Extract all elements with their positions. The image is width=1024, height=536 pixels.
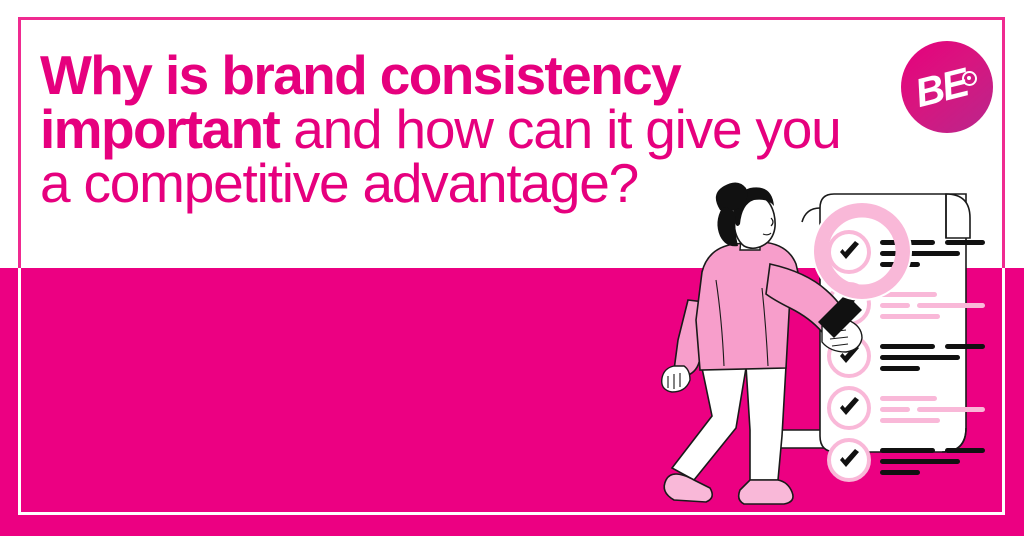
text-line (945, 344, 985, 349)
headline-regular-part-1: and how can it give you (279, 98, 840, 160)
text-line (945, 448, 985, 453)
headline-bold-part-1: Why is brand consistency (40, 44, 680, 106)
logo-registered-dot-icon (962, 71, 977, 86)
text-line (880, 355, 960, 360)
logo-wordmark: BE (891, 31, 1003, 143)
frame-border-left-upper (18, 17, 21, 268)
headline-line-2: important and how can it give you (40, 102, 1000, 156)
person-back-shoe (664, 474, 712, 502)
person-front-leg (746, 366, 786, 480)
text-line (880, 418, 940, 423)
text-line (880, 303, 910, 308)
frame-border-top (18, 17, 1005, 20)
frame-border-left-lower (18, 268, 21, 515)
text-line (880, 251, 960, 256)
text-line (880, 396, 937, 401)
brand-consistency-banner: Why is brand consistency important and h… (0, 0, 1024, 536)
headline-bold-part-2: important (40, 98, 279, 160)
text-line (880, 470, 920, 475)
headline-line-1: Why is brand consistency (40, 48, 1000, 102)
headline-regular-part-2: a competitive advantage? (40, 152, 638, 214)
text-line (880, 459, 960, 464)
person-left-hand (662, 366, 690, 392)
text-line (880, 448, 935, 453)
be-logo[interactable]: BE (901, 41, 993, 133)
person-front-shoe (739, 480, 793, 504)
text-line (880, 366, 920, 371)
illustration-woman-with-checklist (650, 180, 1024, 536)
scroll-left-lip (802, 208, 820, 222)
text-line (917, 407, 985, 412)
text-line (945, 240, 985, 245)
text-line (880, 314, 940, 319)
text-line (880, 344, 935, 349)
text-line (880, 407, 910, 412)
text-line (917, 303, 985, 308)
